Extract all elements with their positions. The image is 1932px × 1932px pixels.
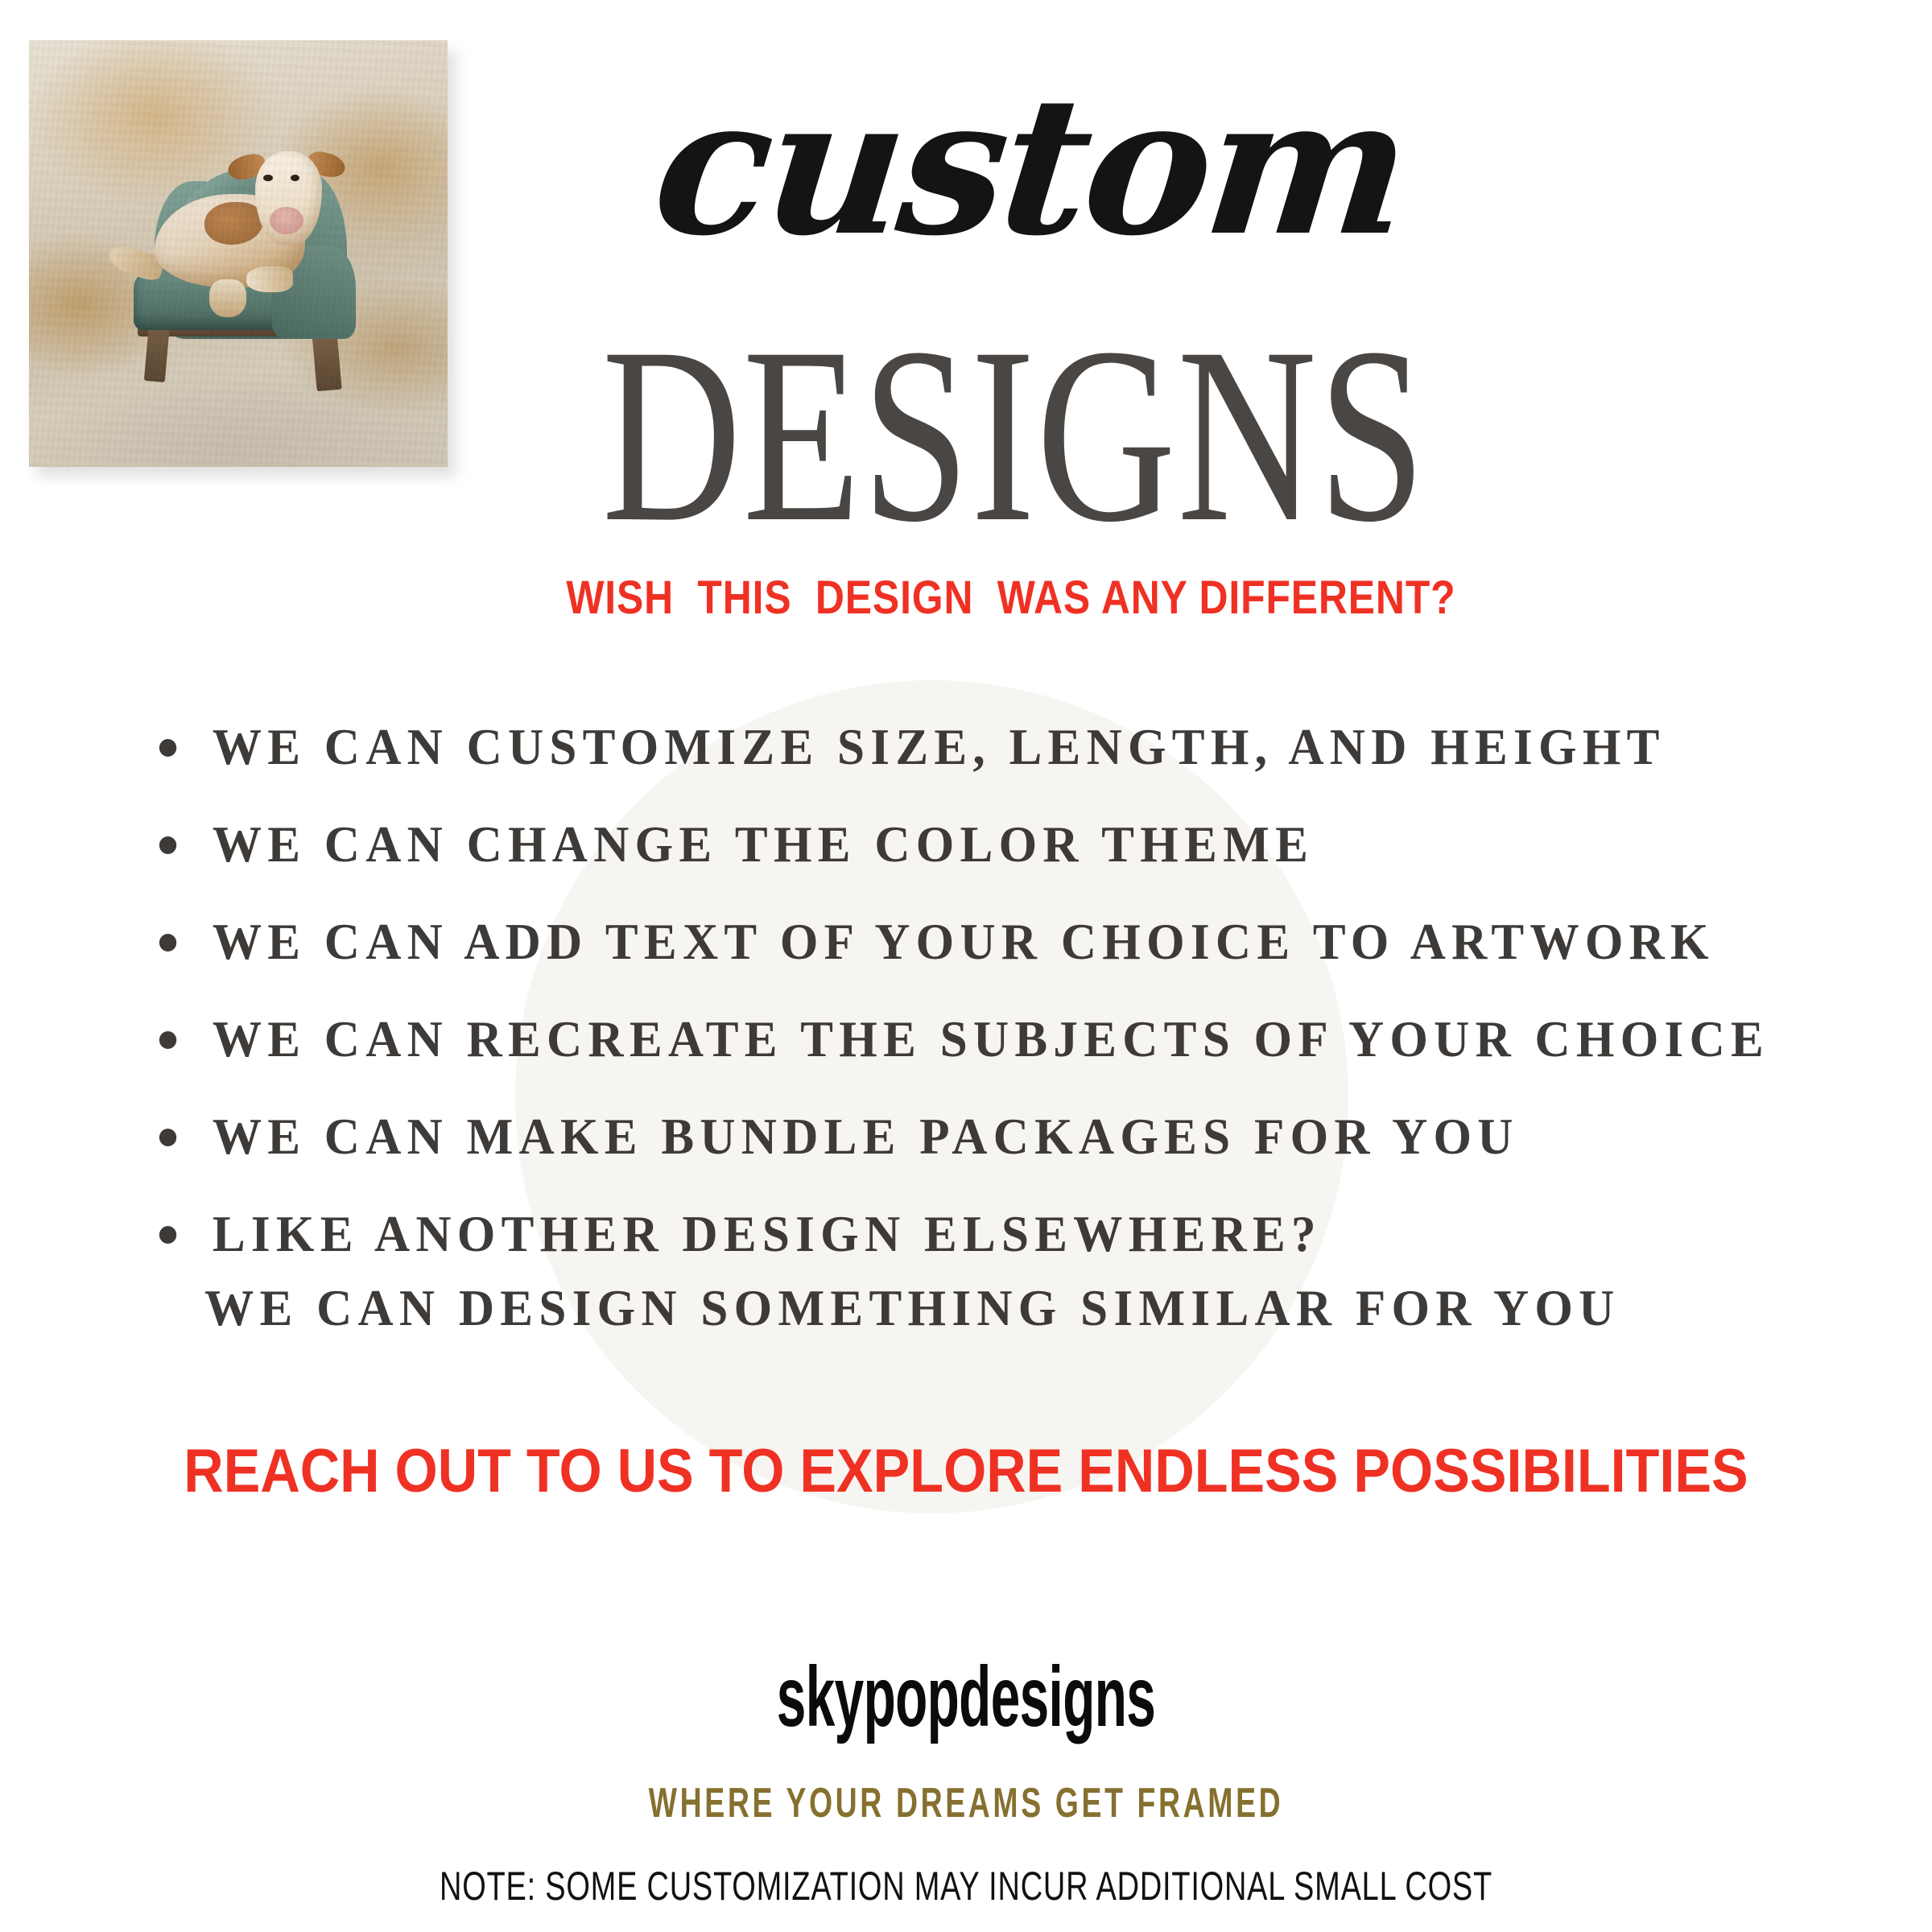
footer-note: NOTE: SOME CUSTOMIZATION MAY INCUR ADDIT…	[232, 1866, 1700, 1906]
list-item: WE CAN CHANGE THE COLOR THEME	[0, 796, 1874, 894]
bullet-dot-icon	[159, 1226, 176, 1244]
call-to-action-text: REACH OUT TO US TO EXPLORE ENDLESS POSSI…	[97, 1441, 1835, 1502]
list-item: WE CAN ADD TEXT OF YOUR CHOICE TO ARTWOR…	[0, 894, 1874, 991]
list-item-label: WE CAN RECREATE THE SUBJECTS OF YOUR CHO…	[213, 1011, 1769, 1067]
bullet-dot-icon	[159, 739, 176, 757]
list-item: LIKE ANOTHER DESIGN ELSEWHERE?	[0, 1186, 1874, 1283]
script-heading-custom: custom	[0, 71, 1932, 261]
list-item-continuation: WE CAN DESIGN SOMETHING SIMILAR FOR YOU	[0, 1283, 1932, 1334]
list-item-label: LIKE ANOTHER DESIGN ELSEWHERE?	[213, 1206, 1322, 1262]
list-item: WE CAN CUSTOMIZE SIZE, LENGTH, AND HEIGH…	[0, 699, 1874, 796]
cow-hoof-front	[209, 279, 247, 318]
bullet-dot-icon	[159, 836, 176, 854]
list-item-label: WE CAN CUSTOMIZE SIZE, LENGTH, AND HEIGH…	[213, 719, 1666, 775]
bullet-dot-icon	[159, 1129, 176, 1146]
cow-foreleg-right	[246, 266, 292, 292]
list-item: WE CAN MAKE BUNDLE PACKAGES FOR YOU	[0, 1088, 1874, 1186]
subtitle-question: WISH THIS DESIGN WAS ANY DIFFERENT?	[135, 575, 1797, 621]
list-item-label: WE CAN MAKE BUNDLE PACKAGES FOR YOU	[213, 1108, 1519, 1165]
bullet-dot-icon	[159, 1031, 176, 1049]
page-title-designs: DESIGNS	[193, 316, 1739, 554]
brand-tagline: WHERE YOUR DREAMS GET FRAMED	[270, 1782, 1662, 1824]
list-item-label: WE CAN CHANGE THE COLOR THEME	[213, 816, 1314, 873]
bullet-dot-icon	[159, 934, 176, 952]
feature-bullet-list: WE CAN CUSTOMIZE SIZE, LENGTH, AND HEIGH…	[0, 699, 1932, 1283]
chair-leg-left	[143, 321, 169, 382]
list-item-label: WE CAN ADD TEXT OF YOUR CHOICE TO ARTWOR…	[213, 914, 1715, 970]
list-item: WE CAN RECREATE THE SUBJECTS OF YOUR CHO…	[0, 991, 1874, 1088]
brand-logo-wordmark: skypopdesigns	[367, 1654, 1565, 1740]
